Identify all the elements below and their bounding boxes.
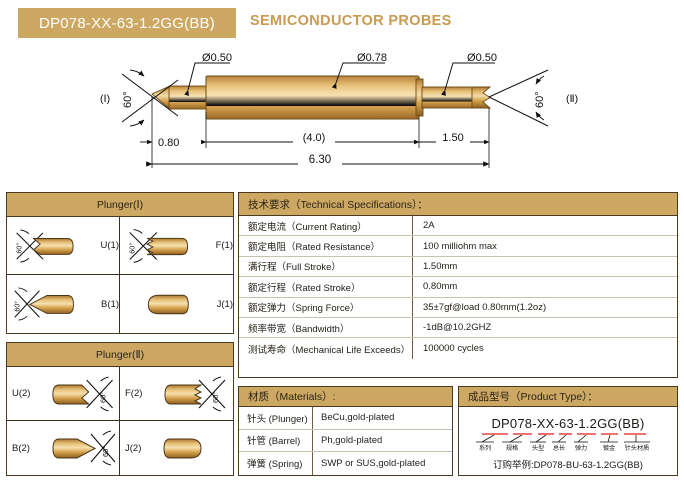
drawing-dia-tip-right: Ø0.50 [467, 52, 497, 64]
spec-key: 额定弹力（Spring Force） [239, 298, 413, 317]
svg-text:针头材质: 针头材质 [625, 444, 650, 452]
drawing-dim-right: 1.50 [442, 132, 463, 144]
plunger-2-tip-u[interactable]: U(2) 60° [7, 367, 120, 421]
page-title: SEMICONDUCTOR PROBES [250, 13, 452, 29]
svg-text:镀金: 镀金 [603, 444, 616, 452]
plunger-1-tip-f[interactable]: 60° F(1) [120, 217, 233, 275]
spec-value: 100 milliohm max [413, 236, 677, 255]
drawing-dim-middle: (4.0) [303, 132, 326, 144]
tip-icon-j2 [144, 426, 230, 470]
plunger-1-tip-j[interactable]: J(1) [120, 275, 233, 333]
spec-key: 额定行程（Rated Stroke） [239, 277, 413, 296]
material-value: SWP or SUS,gold-plated [313, 452, 452, 475]
spec-value: -1dB@10.2GHZ [413, 318, 677, 337]
svg-text:规格: 规格 [506, 444, 519, 452]
tip-icon-f2: 60° [145, 372, 231, 416]
plunger-2-title: Plunger(Ⅱ) [7, 343, 233, 367]
product-type-code: DP078-XX-63-1.2GG(BB) [459, 416, 677, 431]
plunger-1-title: Plunger(Ⅰ) [7, 193, 233, 217]
datasheet-page: DP078-XX-63-1.2GG(BB) SEMICONDUCTOR PROB… [0, 0, 684, 482]
materials-panel: 材质（Materials）: 针头 (Plunger) BeCu,gold-pl… [238, 386, 453, 476]
spec-key: 频率带宽（Bandwidth） [239, 318, 413, 337]
product-type-annotations: 系列 规格 头型 总长 弹力 镀金 针头材质 [459, 433, 677, 455]
spec-value: 2A [413, 216, 677, 235]
technical-specifications-panel: 技术要求（Technical Specifications）： 额定电流（Cur… [238, 192, 678, 378]
spec-row: 测试寿命（Mechanical Life Exceeds） 100000 cyc… [239, 338, 677, 358]
spec-value: 1.50mm [413, 257, 677, 276]
spec-key: 满行程（Full Stroke） [239, 257, 413, 276]
specs-title: 技术要求（Technical Specifications）： [239, 193, 677, 216]
material-row: 针头 (Plunger) BeCu,gold-plated [239, 407, 452, 430]
drawing-dim-total: 6.30 [309, 154, 331, 166]
material-row: 弹簧 (Spring) SWP or SUS,gold-plated [239, 452, 452, 475]
spec-row: 额定弹力（Spring Force） 35±7gf@load 0.80mm(1.… [239, 298, 677, 318]
svg-text:弹力: 弹力 [575, 444, 587, 452]
spec-row: 额定电流（Current Rating） 2A [239, 216, 677, 236]
spec-row: 满行程（Full Stroke） 1.50mm [239, 257, 677, 277]
spec-key: 测试寿命（Mechanical Life Exceeds） [239, 338, 413, 358]
spec-row: 额定行程（Rated Stroke） 0.80mm [239, 277, 677, 297]
tip-icon-u2: 60° [33, 372, 119, 416]
plunger-2-tip-u-label: U(2) [12, 388, 30, 399]
svg-text:头型: 头型 [532, 444, 544, 452]
plunger-1-tip-u[interactable]: 60° U(1) [7, 217, 120, 275]
spec-value: 0.80mm [413, 277, 677, 296]
material-row: 针管 (Barrel) Ph,gold-plated [239, 430, 452, 453]
drawing-dia-barrel: Ø0.78 [357, 52, 387, 64]
svg-text:60°: 60° [211, 391, 220, 402]
part-number-badge: DP078-XX-63-1.2GG(BB) [18, 8, 236, 38]
tip-icon-f1: 60° [124, 224, 213, 268]
plunger-2-panel: Plunger(Ⅱ) U(2) 60° F(2) [6, 342, 234, 476]
order-example: 订购举例:DP078-BU-63-1.2GG(BB) [459, 457, 677, 471]
plunger-1-tip-b-label: B(1) [101, 299, 119, 310]
plunger-1-panel: Plunger(Ⅰ) 60° [6, 192, 234, 334]
product-type-title: 成品型号（Product Type）： [459, 387, 677, 407]
tip-icon-b1: 60° [11, 282, 98, 326]
drawing-label-right: (Ⅱ) [566, 93, 578, 105]
product-type-panel: 成品型号（Product Type）： DP078-XX-63-1.2GG(BB… [458, 386, 678, 476]
tip-icon-b2: 60° [33, 426, 119, 470]
part-number-text: DP078-XX-63-1.2GG(BB) [39, 15, 215, 32]
plunger-1-tip-j-label: J(1) [217, 299, 233, 310]
materials-title: 材质（Materials）: [239, 387, 452, 407]
material-value: BeCu,gold-plated [313, 407, 452, 429]
svg-text:60°: 60° [99, 391, 108, 402]
plunger-2-tip-b-label: B(2) [12, 443, 30, 454]
tip-icon-j1 [124, 282, 214, 326]
plunger-2-tip-j-label: J(2) [125, 443, 141, 454]
svg-text:总长: 总长 [553, 444, 565, 452]
material-key: 弹簧 (Spring) [239, 452, 313, 475]
plunger-2-tip-f-label: F(2) [125, 388, 142, 399]
svg-text:60°: 60° [15, 242, 23, 253]
svg-text:系列: 系列 [479, 444, 491, 452]
material-key: 针管 (Barrel) [239, 430, 313, 452]
plunger-1-tip-f-label: F(1) [216, 240, 233, 251]
svg-text:60°: 60° [101, 446, 110, 457]
probe-technical-drawing: 60° (Ⅰ) 60° (Ⅱ) Ø0.50 Ø0.78 Ø0.50 0.80 [100, 46, 660, 181]
drawing-dia-tip-left: Ø0.50 [202, 52, 232, 64]
plunger-2-tip-b[interactable]: B(2) 60° [7, 421, 120, 475]
svg-text:60°: 60° [14, 301, 22, 312]
plunger-2-tip-j[interactable]: J(2) [120, 421, 233, 475]
svg-text:60°: 60° [128, 242, 137, 253]
tip-icon-u1: 60° [11, 224, 98, 268]
spec-key: 额定电流（Current Rating） [239, 216, 413, 235]
drawing-angle-left: 60° [122, 91, 134, 108]
plunger-1-tip-u-label: U(1) [101, 240, 119, 251]
spec-value: 35±7gf@load 0.80mm(1.2oz) [413, 298, 677, 317]
spec-key: 额定电阻（Rated Resistance） [239, 236, 413, 255]
material-value: Ph,gold-plated [313, 430, 452, 452]
drawing-angle-right: 60° [534, 91, 546, 108]
drawing-label-left: (Ⅰ) [100, 93, 110, 105]
spec-row: 频率带宽（Bandwidth） -1dB@10.2GHZ [239, 318, 677, 338]
plunger-2-tip-f[interactable]: F(2) 60° [120, 367, 233, 421]
drawing-dim-left: 0.80 [158, 137, 179, 149]
plunger-1-tip-b[interactable]: 60° B(1) [7, 275, 120, 333]
material-key: 针头 (Plunger) [239, 407, 313, 429]
spec-row: 额定电阻（Rated Resistance） 100 milliohm max [239, 236, 677, 256]
spec-value: 100000 cycles [413, 338, 677, 358]
